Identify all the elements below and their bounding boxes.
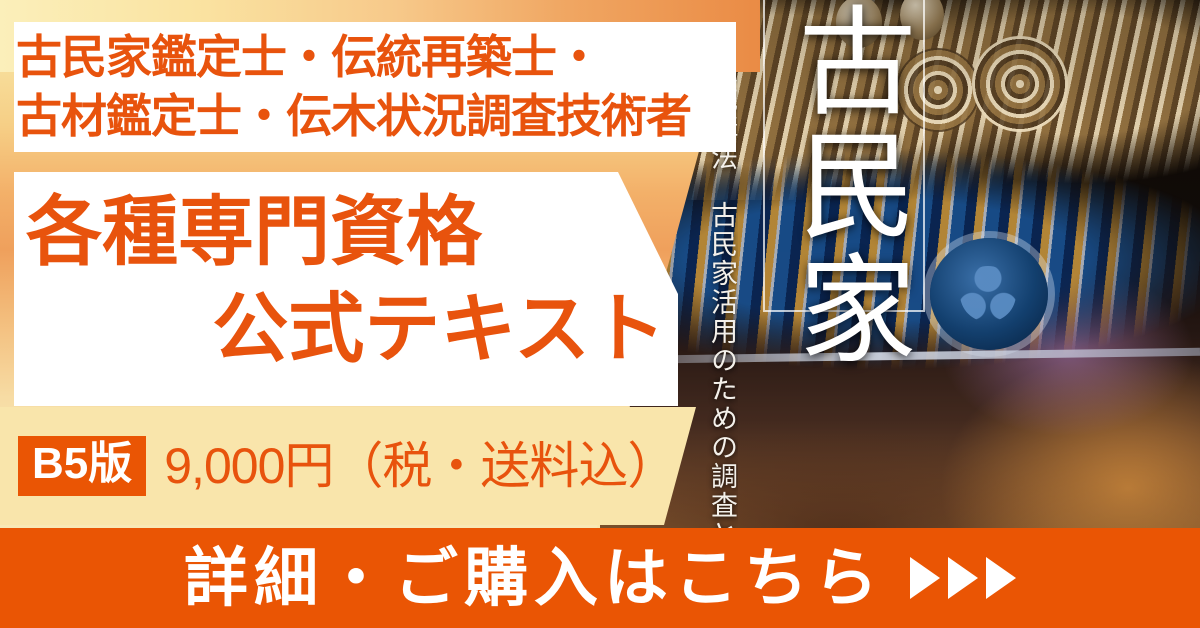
product-headline-line1: 各種専門資格 [16,184,676,281]
price-row: B5版 9,000円（税・送料込） [18,428,676,504]
book-cover-title: 古民家 [778,0,908,420]
cta-arrows [910,557,1016,599]
chevron-right-icon [948,557,978,599]
promo-banner: 古民家 伝統構法 古民家活用のための調査と再生の 古民家鑑定士・伝統再築士・ 古… [0,0,1200,628]
qualifications-headline: 古民家鑑定士・伝統再築士・ 古材鑑定士・伝木状況調査技術者 [16,28,732,146]
chevron-right-icon [986,557,1016,599]
price-amount: 9,000円（税・送料込） [164,441,676,491]
cta-label: 詳細・ご購入はこちら [184,546,884,610]
chevron-right-icon [910,557,940,599]
qualifications-headline-line1: 古民家鑑定士・伝統再築士・ [16,28,732,87]
product-headline-line2: 公式テキスト [16,281,676,378]
cta-button[interactable]: 詳細・ご購入はこちら [0,528,1200,628]
product-headline: 各種専門資格 公式テキスト [16,184,676,379]
qualifications-headline-line2: 古材鑑定士・伝木状況調査技術者 [16,87,732,146]
format-badge: B5版 [18,436,146,496]
